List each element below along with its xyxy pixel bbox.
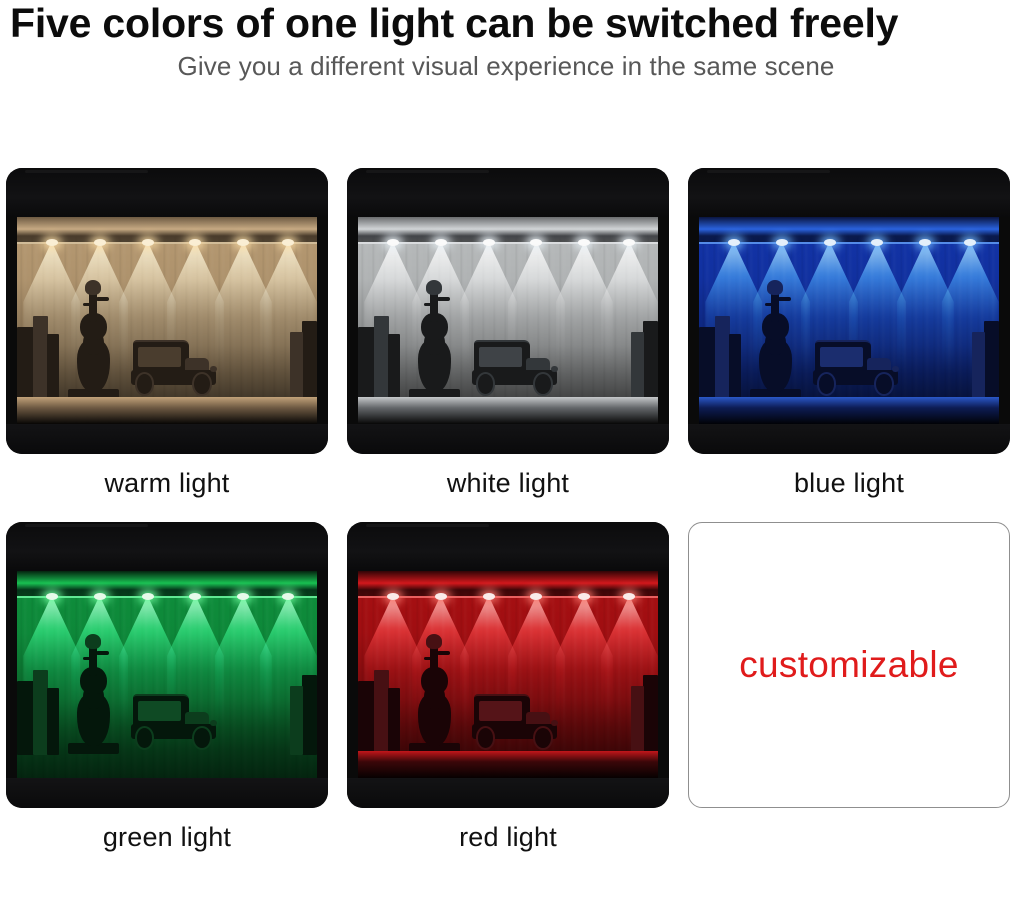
book-left-2	[33, 316, 48, 401]
violin-peg-2	[778, 297, 791, 300]
card-photo-customizable[interactable]: customizable	[688, 522, 1010, 808]
ceiling	[6, 522, 328, 571]
violin-sculpture	[71, 279, 116, 392]
car-wheel-rear	[533, 726, 553, 750]
book-right-1	[643, 675, 658, 755]
shelf-surface	[17, 751, 316, 778]
car-wheel-front	[135, 726, 155, 750]
car-window	[138, 347, 181, 366]
cabinet-interior	[358, 217, 657, 424]
car-window	[479, 347, 522, 366]
car-window	[138, 701, 181, 720]
car-window	[479, 701, 522, 720]
book-left-2	[715, 316, 730, 401]
ceiling	[6, 168, 328, 217]
cabinet-interior	[699, 217, 998, 424]
shelf-surface	[699, 397, 998, 424]
violin-neck	[430, 644, 438, 676]
cabinet-interior	[358, 571, 657, 778]
cabinet-interior	[17, 571, 316, 778]
cabinet-plinth	[6, 424, 328, 454]
ceiling	[347, 168, 669, 217]
book-left-1	[17, 681, 33, 756]
violin-peg-1	[83, 303, 96, 306]
car-wheel-rear	[874, 372, 894, 396]
ceiling-duct	[25, 170, 147, 173]
ceiling	[347, 522, 669, 571]
card-caption-blue-light: blue light	[688, 466, 1010, 500]
car-headlamp	[551, 720, 558, 727]
car-wheel-rear	[192, 372, 212, 396]
shelf-objects	[699, 273, 998, 402]
cabinet-plinth	[347, 778, 669, 808]
scene-white-light	[347, 168, 669, 454]
vintage-car-model	[131, 693, 221, 750]
violin-scroll	[85, 634, 101, 649]
violin-peg-1	[424, 303, 437, 306]
book-right-2	[631, 686, 644, 755]
shelf-surface	[358, 751, 657, 778]
violin-peg-2	[437, 297, 450, 300]
car-wheel-rear	[192, 726, 212, 750]
car-wheel-rear	[533, 372, 553, 396]
violin-neck	[89, 644, 97, 676]
shelf-surface	[358, 397, 657, 424]
violin-peg-2	[96, 297, 109, 300]
cabinet-interior	[17, 217, 316, 424]
light-card-customizable[interactable]: customizable	[688, 522, 1010, 854]
scene-blue-light	[688, 168, 1010, 454]
book-right-1	[302, 675, 317, 755]
light-color-grid: warm light	[6, 168, 1016, 854]
book-left-1	[358, 681, 374, 756]
light-card-blue-light[interactable]: blue light	[688, 168, 1010, 500]
book-left-2	[374, 670, 389, 755]
page-headline: Five colors of one light can be switched…	[10, 0, 1014, 46]
book-right-2	[290, 332, 303, 401]
car-headlamp	[210, 720, 217, 727]
book-left-3	[47, 688, 60, 755]
book-left-3	[47, 334, 60, 401]
violin-sculpture	[412, 279, 457, 392]
product-feature-page: Five colors of one light can be switched…	[0, 0, 1024, 912]
book-left-3	[388, 688, 401, 755]
violin-neck	[771, 290, 779, 322]
light-card-white-light[interactable]: white light	[347, 168, 669, 500]
violin-scroll	[85, 280, 101, 295]
book-right-2	[631, 332, 644, 401]
ceiling-duct	[366, 524, 488, 527]
ceiling-duct	[707, 170, 829, 173]
cabinet-plinth	[688, 424, 1010, 454]
car-wheel-front	[817, 372, 837, 396]
violin-peg-2	[96, 651, 109, 654]
shelf-objects	[358, 273, 657, 402]
card-photo-white-light[interactable]	[347, 168, 669, 454]
car-headlamp	[892, 366, 899, 373]
card-photo-red-light[interactable]	[347, 522, 669, 808]
cabinet-plinth	[6, 778, 328, 808]
ceiling	[688, 168, 1010, 217]
violin-neck	[89, 290, 97, 322]
page-subtitle: Give you a different visual experience i…	[0, 50, 1012, 82]
car-window	[820, 347, 863, 366]
vintage-car-model	[131, 339, 221, 396]
book-left-2	[374, 316, 389, 401]
scene-green-light	[6, 522, 328, 808]
card-caption-white-light: white light	[347, 466, 669, 500]
card-photo-warm-light[interactable]	[6, 168, 328, 454]
book-left-3	[729, 334, 742, 401]
violin-peg-2	[437, 651, 450, 654]
book-right-1	[643, 321, 658, 401]
scene-warm-light	[6, 168, 328, 454]
card-caption-red-light: red light	[347, 820, 669, 854]
book-left-1	[17, 327, 33, 402]
violin-sculpture	[412, 633, 457, 746]
shelf-surface	[17, 397, 316, 424]
book-left-1	[358, 327, 374, 402]
car-wheel-front	[476, 726, 496, 750]
violin-peg-1	[83, 657, 96, 660]
car-wheel-front	[135, 372, 155, 396]
car-headlamp	[210, 366, 217, 373]
book-right-2	[290, 686, 303, 755]
card-caption-warm-light: warm light	[6, 466, 328, 500]
shelf-objects	[17, 273, 316, 402]
vintage-car-model	[472, 339, 562, 396]
violin-scroll	[767, 280, 783, 295]
violin-peg-1	[765, 303, 778, 306]
light-card-red-light[interactable]: red light	[347, 522, 669, 854]
shelf-objects	[358, 627, 657, 756]
book-right-1	[302, 321, 317, 401]
shelf-objects	[17, 627, 316, 756]
violin-scroll	[426, 280, 442, 295]
card-photo-green-light[interactable]	[6, 522, 328, 808]
violin-sculpture	[753, 279, 798, 392]
violin-sculpture	[71, 633, 116, 746]
book-right-2	[972, 332, 985, 401]
customizable-label: customizable	[689, 643, 1009, 687]
ceiling-duct	[366, 170, 488, 173]
book-left-1	[699, 327, 715, 402]
violin-peg-1	[424, 657, 437, 660]
car-headlamp	[551, 366, 558, 373]
book-left-2	[33, 670, 48, 755]
book-left-3	[388, 334, 401, 401]
car-wheel-front	[476, 372, 496, 396]
ceiling-duct	[25, 524, 147, 527]
cabinet-plinth	[347, 424, 669, 454]
book-right-1	[984, 321, 999, 401]
light-card-green-light[interactable]: green light	[6, 522, 328, 854]
card-photo-blue-light[interactable]	[688, 168, 1010, 454]
violin-neck	[430, 290, 438, 322]
vintage-car-model	[813, 339, 903, 396]
light-card-warm-light[interactable]: warm light	[6, 168, 328, 500]
card-caption-green-light: green light	[6, 820, 328, 854]
scene-red-light	[347, 522, 669, 808]
violin-scroll	[426, 634, 442, 649]
vintage-car-model	[472, 693, 562, 750]
